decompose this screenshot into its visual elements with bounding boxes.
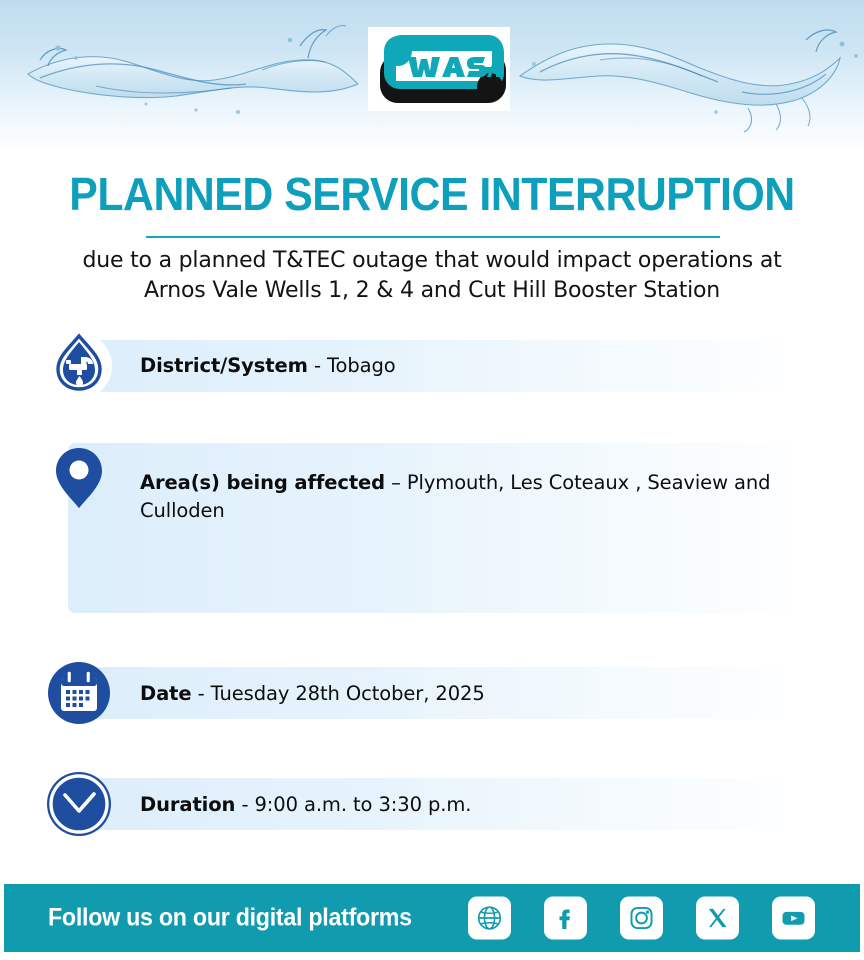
instagram-icon[interactable] <box>620 897 663 940</box>
notice-subtitle: due to a planned T&TEC outage that would… <box>82 246 782 306</box>
water-tap-icon <box>44 331 114 401</box>
social-links <box>468 897 815 940</box>
duration-row-text: Duration - 9:00 a.m. to 3:30 p.m. <box>140 791 471 819</box>
district-value: Tobago <box>327 354 396 377</box>
header-banner <box>0 0 864 152</box>
duration-label: Duration <box>140 793 235 816</box>
footer-bar: Follow us on our digital platforms <box>4 884 860 952</box>
clock-icon <box>44 769 114 839</box>
date-row-text: Date - Tuesday 28th October, 2025 <box>140 680 485 708</box>
duration-separator: - <box>235 793 254 816</box>
map-pin-icon <box>44 443 114 513</box>
calendar-icon <box>44 658 114 728</box>
district-row-text: District/System - Tobago <box>140 352 396 380</box>
date-label: Date <box>140 682 192 705</box>
title-divider <box>146 236 720 238</box>
youtube-icon[interactable] <box>772 897 815 940</box>
areas-separator: – <box>385 471 407 494</box>
follow-us-label: Follow us on our digital platforms <box>48 904 412 933</box>
x-twitter-icon[interactable] <box>696 897 739 940</box>
facebook-icon[interactable] <box>544 897 587 940</box>
areas-label: Area(s) being affected <box>140 471 385 494</box>
district-label: District/System <box>140 354 308 377</box>
page-title: PLANNED SERVICE INTERRUPTION <box>30 168 834 220</box>
areas-row-text: Area(s) being affected – Plymouth, Les C… <box>140 469 780 525</box>
wasa-logo <box>368 27 510 111</box>
wasa-logo-icon <box>368 27 510 111</box>
website-icon[interactable] <box>468 897 511 940</box>
date-value: Tuesday 28th October, 2025 <box>211 682 485 705</box>
district-separator: - <box>308 354 327 377</box>
duration-value: 9:00 a.m. to 3:30 p.m. <box>254 793 471 816</box>
date-separator: - <box>192 682 211 705</box>
